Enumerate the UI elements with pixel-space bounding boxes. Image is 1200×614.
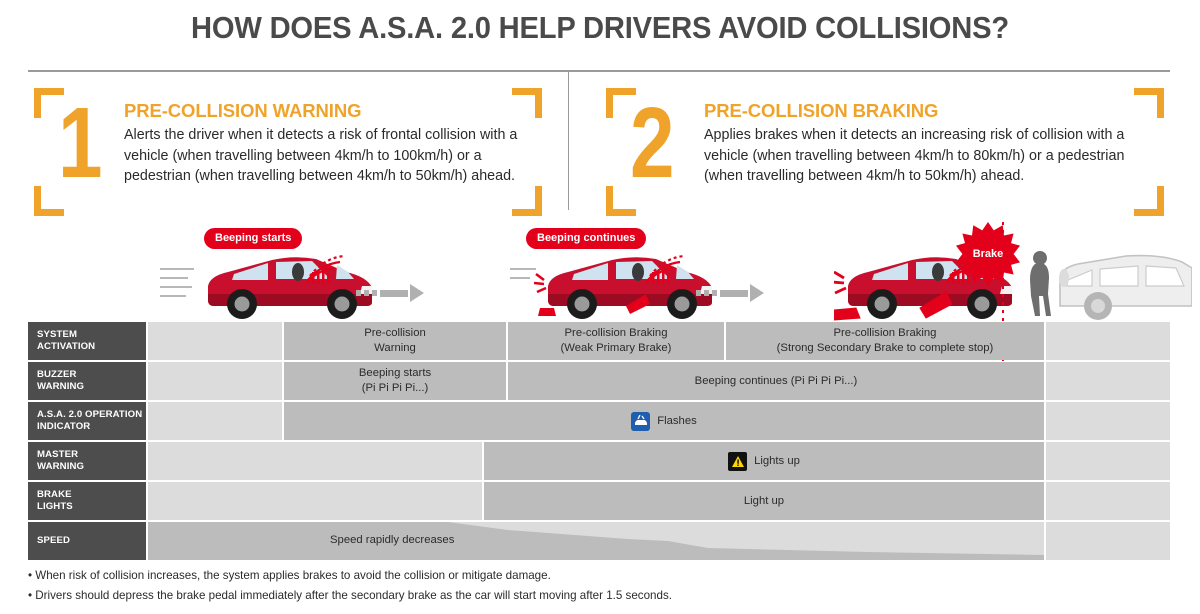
- table-row-buzzer-warning: BUZZER WARNING Beeping starts(Pi Pi Pi P…: [28, 362, 1170, 400]
- bracket-bottom-right-icon: [512, 186, 542, 216]
- panel-heading: PRE-COLLISION BRAKING: [704, 100, 1164, 122]
- cell-empty: [148, 322, 282, 360]
- cell-empty: [1046, 402, 1170, 440]
- row-label-line2: ACTIVATION: [37, 341, 146, 353]
- asa-indicator-icon: [631, 412, 650, 431]
- row-label-line1: A.S.A. 2.0 OPERATION: [37, 409, 146, 421]
- footnotes: • When risk of collision increases, the …: [28, 566, 1028, 607]
- panel-number: 1: [58, 96, 103, 191]
- row-label-line2: INDICATOR: [37, 421, 146, 433]
- speed-decrease-graphic: Speed rapidly decreases: [148, 522, 1044, 560]
- cell-empty: [148, 482, 482, 520]
- speed-caption: Speed rapidly decreases: [330, 534, 454, 546]
- motion-arrow-icon: [696, 284, 764, 302]
- speed-lines-icon: [160, 268, 194, 304]
- bracket-bottom-right-icon: [1134, 186, 1164, 216]
- table-row-speed: SPEED Speed rapidly decreases: [28, 522, 1170, 560]
- panel-pre-collision-warning: 1 PRE-COLLISION WARNING Alerts the drive…: [28, 82, 548, 222]
- header-divider: [28, 70, 1170, 72]
- cell-empty: [148, 442, 482, 480]
- panel-pre-collision-braking: 2 PRE-COLLISION BRAKING Applies brakes w…: [600, 82, 1170, 222]
- cell-empty: [148, 362, 282, 400]
- cell-flashes: Flashes: [284, 402, 1044, 440]
- table-row-brake-lights: BRAKE LIGHTS Light up: [28, 482, 1170, 520]
- page-title: HOW DOES A.S.A. 2.0 HELP DRIVERS AVOID C…: [36, 10, 1164, 46]
- cell-empty: [1046, 322, 1170, 360]
- row-label-line1: BRAKE: [37, 489, 146, 501]
- footnote-item: • When risk of collision increases, the …: [28, 566, 1028, 586]
- row-label: MASTER WARNING: [28, 442, 146, 480]
- cell-lights-up: Lights up: [484, 442, 1044, 480]
- cell-strong-secondary-brake: Pre-collision Braking(Strong Secondary B…: [726, 322, 1044, 360]
- cell-light-up: Light up: [484, 482, 1044, 520]
- row-label-line2: WARNING: [37, 461, 146, 473]
- panel-body: Applies brakes when it detects an increa…: [704, 125, 1164, 187]
- panel-divider: [568, 70, 569, 210]
- row-label-line1: SPEED: [37, 535, 146, 547]
- row-label-line1: BUZZER: [37, 369, 146, 381]
- table-row-system-activation: SYSTEM ACTIVATION Pre-collisionWarning P…: [28, 322, 1170, 360]
- table-row-master-warning: MASTER WARNING Lights up: [28, 442, 1170, 480]
- panel-body: Alerts the driver when it detects a risk…: [124, 125, 524, 187]
- cell-empty: [1046, 522, 1170, 560]
- cell-empty: [1046, 482, 1170, 520]
- cell-empty: [1046, 442, 1170, 480]
- row-label: BUZZER WARNING: [28, 362, 146, 400]
- cell-pre-collision-warning: Pre-collisionWarning: [284, 322, 506, 360]
- row-label: BRAKE LIGHTS: [28, 482, 146, 520]
- row-label-line1: MASTER: [37, 449, 146, 461]
- motion-arrow-icon: [356, 284, 424, 302]
- grey-car-illustration: [1052, 250, 1192, 322]
- scene-2-weak-brake: Beeping continues: [500, 228, 770, 322]
- panel-heading: PRE-COLLISION WARNING: [124, 100, 524, 122]
- row-label-line2: WARNING: [37, 381, 146, 393]
- cell-beeping-continues: Beeping continues (Pi Pi Pi Pi...): [508, 362, 1044, 400]
- footnote-item: • Drivers should depress the brake pedal…: [28, 586, 1028, 606]
- cell-empty: [1046, 362, 1170, 400]
- row-label-line2: LIGHTS: [37, 501, 146, 513]
- cell-beeping-starts: Beeping starts(Pi Pi Pi Pi...): [284, 362, 506, 400]
- scene-3-strong-brake: Brake: [824, 222, 1174, 322]
- badge-beeping-continues: Beeping continues: [526, 228, 646, 249]
- panel-number: 2: [630, 96, 675, 191]
- row-label: SYSTEM ACTIVATION: [28, 322, 146, 360]
- asa-behaviour-table: SYSTEM ACTIVATION Pre-collisionWarning P…: [28, 322, 1170, 562]
- scene-1-warning: Beeping starts: [160, 228, 430, 322]
- row-label-line1: SYSTEM: [37, 329, 146, 341]
- master-warning-icon: [728, 452, 747, 471]
- speed-lines-icon: [510, 268, 536, 286]
- cell-weak-primary-brake: Pre-collision Braking(Weak Primary Brake…: [508, 322, 724, 360]
- badge-beeping-starts: Beeping starts: [204, 228, 302, 249]
- table-row-asa-operation-indicator: A.S.A. 2.0 OPERATION INDICATOR Flashes: [28, 402, 1170, 440]
- row-label: SPEED: [28, 522, 146, 560]
- row-label: A.S.A. 2.0 OPERATION INDICATOR: [28, 402, 146, 440]
- cell-empty: [148, 402, 282, 440]
